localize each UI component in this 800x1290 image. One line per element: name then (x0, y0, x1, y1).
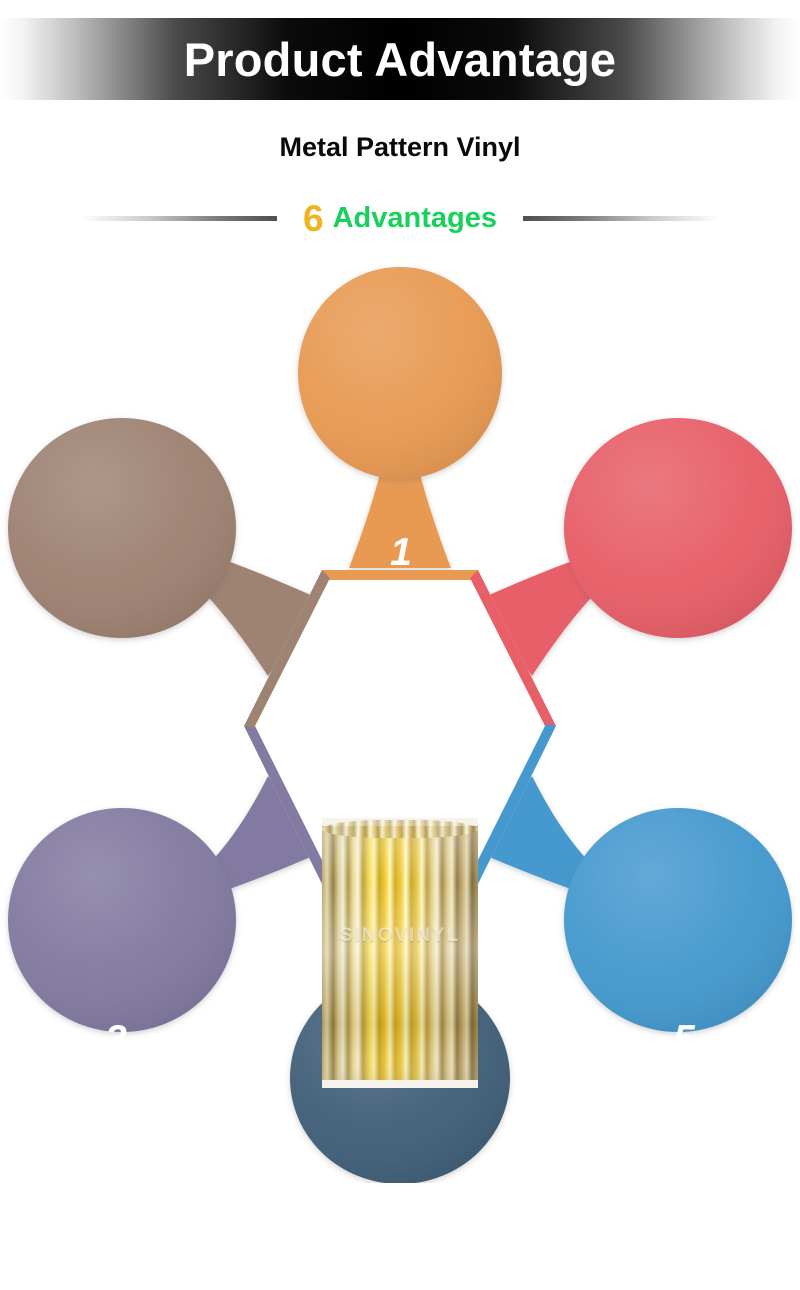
bubble-1[interactable] (298, 267, 502, 479)
advantage-line1-4: Easy to (284, 1230, 516, 1260)
advantage-label-4: 4 Easy to application (284, 1188, 516, 1290)
divider-line-left (81, 216, 277, 221)
bubble-6[interactable] (564, 418, 792, 638)
advantages-label: Advantages (333, 204, 497, 233)
advantage-line2-4: application (284, 1260, 516, 1290)
rolls-top-ends (322, 820, 478, 838)
divider-line-right (523, 216, 719, 221)
watermark-text: SINOVINYL (322, 926, 478, 945)
bubble-2[interactable] (8, 418, 236, 638)
rolls-gloss-overlay (322, 826, 478, 1080)
advantages-count: 6 (303, 200, 324, 237)
advantages-diagram: SINOVINYL 1 Strong viscosity 2 Versatile… (0, 248, 800, 1183)
bubble-5[interactable] (564, 808, 792, 1032)
advantage-number-4: 4 (284, 1188, 516, 1229)
subtitle: Metal Pattern Vinyl (0, 133, 800, 163)
bubble-3[interactable] (8, 808, 236, 1032)
center-product-image: SINOVINYL (322, 818, 478, 1088)
header-banner: Product Advantage (0, 18, 800, 100)
advantages-heading: 6 Advantages (0, 196, 800, 240)
page-title: Product Advantage (184, 36, 617, 83)
hex-edge-1 (322, 570, 478, 580)
